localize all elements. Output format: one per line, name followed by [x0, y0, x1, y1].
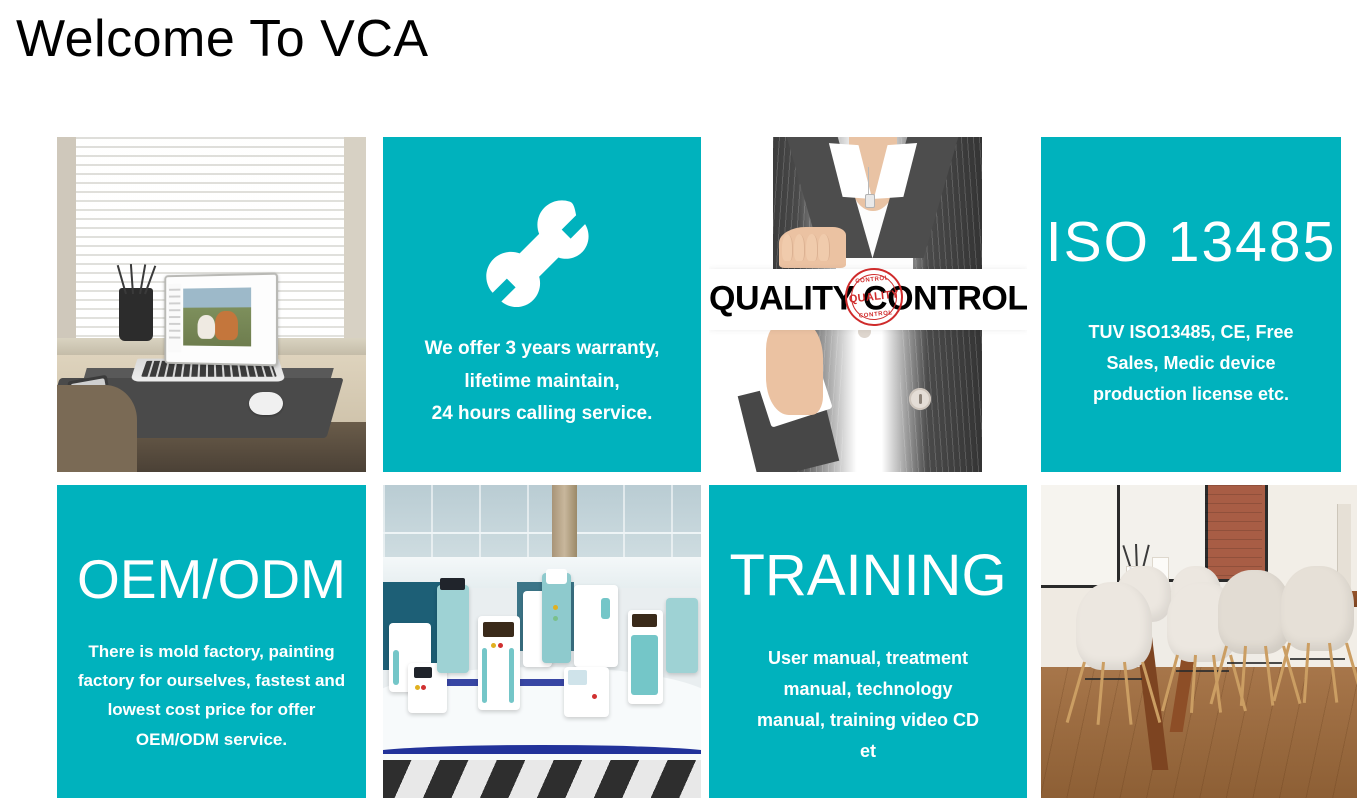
warranty-line-1: We offer 3 years warranty, [393, 333, 691, 366]
card-training[interactable]: TRAINING User manual, treatment manual, … [709, 485, 1027, 798]
page-title: Welcome To VCA [16, 8, 429, 70]
chair-front-4 [1281, 566, 1354, 697]
warranty-line-2: lifetime maintain, [393, 366, 691, 399]
machine-8 [564, 667, 609, 717]
machine-7 [574, 585, 619, 666]
oem-line-4: OEM/ODM service. [67, 725, 356, 754]
machine-4 [478, 616, 519, 710]
balcony-rail [383, 532, 701, 534]
iso-heading: ISO 13485 [1041, 214, 1341, 271]
card-meeting-room-photo[interactable] [1041, 485, 1357, 798]
quality-control-photo: QUALITY CONTROL CONTROL QUALITY CONTROL [709, 137, 1027, 472]
oem-line-1: There is mold factory, painting [67, 637, 356, 666]
card-iso[interactable]: ISO 13485 TUV ISO13485, CE, Free Sales, … [1041, 137, 1341, 472]
necklace-pendant-icon [865, 194, 875, 208]
oem-heading: OEM/ODM [57, 552, 366, 607]
warranty-line-3: 24 hours calling service. [393, 398, 691, 431]
training-heading: TRAINING [709, 547, 1027, 605]
chair-front-1 [1076, 582, 1152, 720]
training-line-1: User manual, treatment [721, 643, 1015, 674]
card-quality-control-photo[interactable]: QUALITY CONTROL CONTROL QUALITY CONTROL [709, 137, 1027, 472]
checker-floor [383, 760, 701, 798]
laptop-screen [164, 273, 278, 367]
screen-sidebar [168, 284, 181, 352]
machine-3 [437, 585, 469, 673]
wall-left [57, 137, 76, 358]
window-left [1041, 485, 1117, 588]
card-warranty[interactable]: We offer 3 years warranty, lifetime main… [383, 137, 701, 472]
wall-right [344, 137, 366, 358]
card-showroom-photo[interactable] [383, 485, 701, 798]
training-line-2: manual, technology [721, 674, 1015, 705]
mouse-icon [249, 392, 283, 415]
meeting-room-photo [1041, 485, 1357, 798]
office-desk-photo [57, 137, 366, 472]
training-line-3: manual, training video CD [721, 705, 1015, 736]
glass-panes [383, 485, 701, 560]
horse-brown [215, 311, 238, 340]
card-oem-odm[interactable]: OEM/ODM There is mold factory, painting … [57, 485, 366, 798]
necklace-chain [868, 167, 869, 197]
oem-body: There is mold factory, painting factory … [67, 637, 356, 754]
iso-body: TUV ISO13485, CE, Free Sales, Medic devi… [1055, 317, 1327, 410]
screen-photo-horses [183, 288, 251, 346]
oem-line-3: lowest cost price for offer [67, 695, 356, 724]
card-office-photo[interactable] [57, 137, 366, 472]
training-body: User manual, treatment manual, technolog… [721, 643, 1015, 767]
brick-wall-outside [1205, 485, 1262, 579]
warranty-body: We offer 3 years warranty, lifetime main… [393, 333, 691, 431]
showroom-photo [383, 485, 701, 798]
stamp-top-text: CONTROL [845, 274, 899, 286]
training-line-4: et [721, 736, 1015, 767]
fingers-upper [782, 234, 842, 261]
stage-stripe-lower [383, 745, 701, 754]
machine-9 [628, 610, 663, 704]
machine-10 [666, 598, 698, 673]
pens-and-scissors-icon [122, 264, 150, 294]
iso-line-2: Sales, Medic device [1055, 348, 1327, 379]
hand-lower [766, 321, 823, 415]
pen-cup [119, 288, 153, 342]
wrench-icon [383, 179, 701, 329]
horse-white [198, 315, 215, 339]
stamp-middle-text: QUALITY [847, 288, 902, 306]
machine-6 [542, 573, 571, 664]
page-root: Welcome To VCA [0, 0, 1357, 798]
stone-column [552, 485, 577, 560]
oem-line-2: factory for ourselves, fastest and [67, 666, 356, 695]
iso-line-1: TUV ISO13485, CE, Free [1055, 317, 1327, 348]
iso-line-3: production license etc. [1055, 379, 1327, 410]
chair [57, 385, 137, 472]
